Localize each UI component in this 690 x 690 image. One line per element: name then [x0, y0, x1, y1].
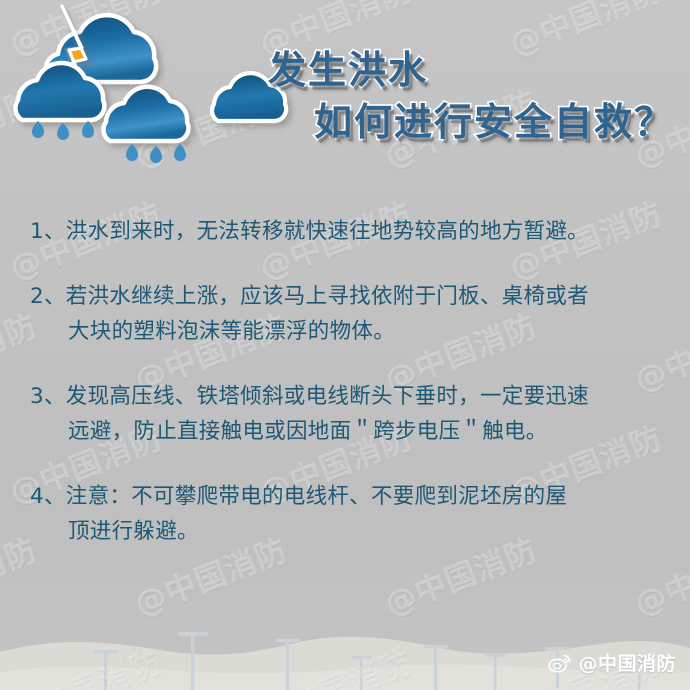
tip-item-first-line: 2、若洪水继续上涨，应该马上寻找依附于门板、桌椅或者: [30, 279, 666, 314]
tip-item: 1、洪水到来时，无法转移就快速往地势较高的地方暂避。: [30, 214, 666, 249]
tip-item: 2、若洪水继续上涨，应该马上寻找依附于门板、桌椅或者大块的塑料泡沫等能漂浮的物体…: [30, 279, 666, 349]
tip-item-continuation-line: 远避，防止直接触电或因地面＂跨步电压＂触电。: [30, 414, 666, 449]
title-line-2: 如何进行安全自救？: [268, 96, 686, 148]
tip-item-continuation-line: 大块的塑料泡沫等能漂浮的物体。: [30, 314, 666, 349]
weibo-handle: @中国消防: [578, 649, 676, 676]
poster-title: 发生洪水 如何进行安全自救？: [268, 44, 686, 148]
infographic-poster: @中国消防@中国消防@中国消防@中国消防@中国消防@中国消防@中国消防@中国消防…: [0, 0, 690, 690]
tip-item: 4、注意：不可攀爬带电的电线杆、不要爬到泥坯房的屋顶进行躲避。: [30, 479, 666, 549]
tip-item-continuation-line: 顶进行躲避。: [30, 514, 666, 549]
safety-tips-list: 1、洪水到来时，无法转移就快速往地势较高的地方暂避。2、若洪水继续上涨，应该马上…: [30, 214, 666, 549]
thunderstorm-icon: [2, 4, 302, 174]
weibo-icon: [548, 653, 572, 673]
tip-item-first-line: 4、注意：不可攀爬带电的电线杆、不要爬到泥坯房的屋: [30, 479, 666, 514]
tip-item-first-line: 1、洪水到来时，无法转移就快速往地势较高的地方暂避。: [30, 214, 666, 249]
tip-item: 3、发现高压线、铁塔倾斜或电线断头下垂时，一定要迅速远避，防止直接触电或因地面＂…: [30, 379, 666, 449]
tip-item-first-line: 3、发现高压线、铁塔倾斜或电线断头下垂时，一定要迅速: [30, 379, 666, 414]
weibo-credit: @中国消防: [548, 649, 676, 676]
title-line-1: 发生洪水: [268, 44, 686, 96]
